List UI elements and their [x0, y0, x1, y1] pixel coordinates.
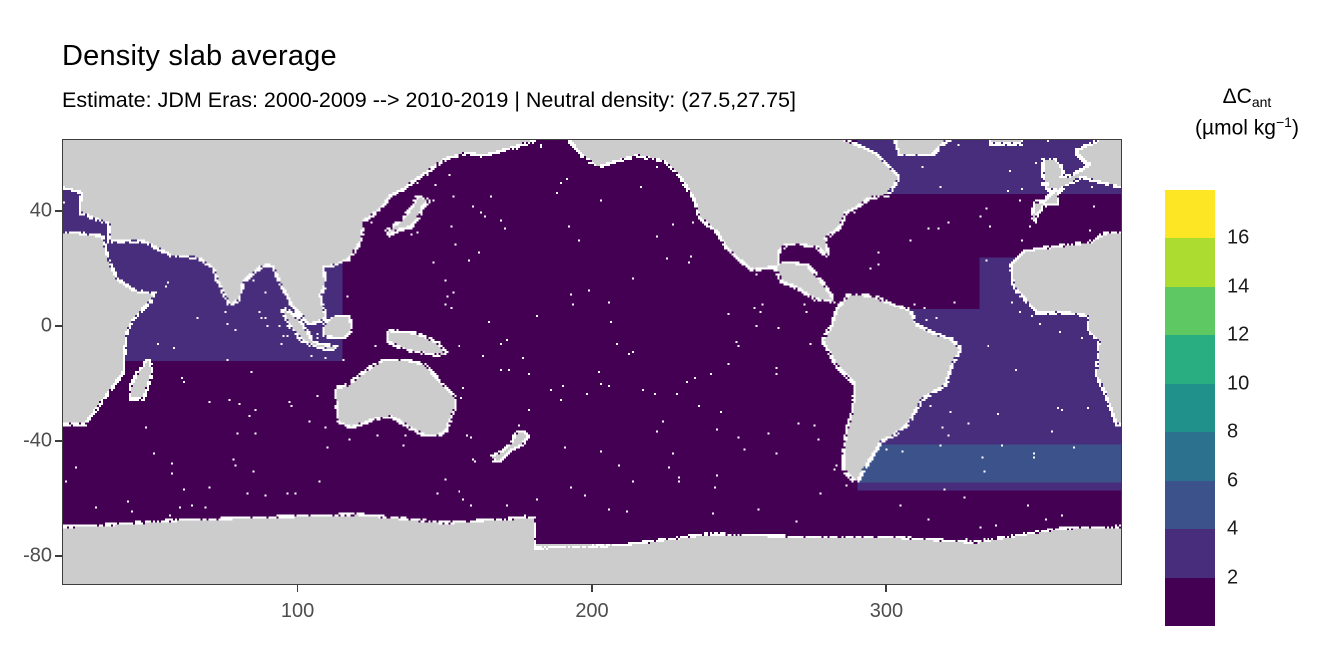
legend-title-main: ΔC	[1223, 85, 1252, 108]
page-subtitle: Estimate: JDM Eras: 2000-2009 --> 2010-2…	[62, 88, 796, 113]
y-tick-mark	[55, 325, 62, 327]
legend-units-prefix: (µmol kg	[1195, 116, 1276, 139]
x-tick-mark	[885, 585, 887, 592]
y-tick-label: 0	[6, 315, 52, 338]
y-tick-label: -80	[6, 545, 52, 568]
x-tick-label: 300	[870, 600, 903, 623]
page-title: Density slab average	[62, 40, 337, 73]
colorbar-tick-label: 2	[1227, 566, 1238, 589]
colorbar-swatch	[1165, 529, 1215, 578]
map-raster	[63, 140, 1121, 584]
x-tick-label: 200	[575, 600, 608, 623]
colorbar-swatch	[1165, 287, 1215, 336]
colorbar-tick-label: 8	[1227, 421, 1238, 444]
colorbar-tick-label: 14	[1227, 275, 1249, 298]
colorbar-swatch	[1165, 481, 1215, 530]
colorbar-swatch	[1165, 335, 1215, 384]
colorbar-swatch	[1165, 432, 1215, 481]
y-tick-mark	[55, 210, 62, 212]
legend-title: ΔCant (µmol kg−1)	[1150, 82, 1344, 143]
map-panel	[62, 139, 1122, 585]
x-tick-mark	[591, 585, 593, 592]
colorbar-tick-label: 6	[1227, 469, 1238, 492]
colorbar: 161412108642	[1165, 190, 1215, 626]
y-tick-label: 40	[6, 199, 52, 222]
figure-root: Density slab average Estimate: JDM Eras:…	[0, 0, 1344, 672]
x-tick-label: 100	[281, 600, 314, 623]
legend-title-subscript: ant	[1252, 94, 1271, 110]
legend-units-superscript: −1	[1276, 114, 1292, 130]
colorbar-tick-label: 10	[1227, 372, 1249, 395]
colorbar-swatch	[1165, 578, 1215, 627]
legend: ΔCant (µmol kg−1)	[1150, 82, 1344, 143]
y-tick-mark	[55, 440, 62, 442]
colorbar-tick-label: 16	[1227, 227, 1249, 250]
colorbar-swatch	[1165, 384, 1215, 433]
colorbar-swatch	[1165, 238, 1215, 287]
legend-units-suffix: )	[1292, 116, 1299, 139]
y-tick-label: -40	[6, 430, 52, 453]
x-tick-mark	[297, 585, 299, 592]
y-tick-mark	[55, 555, 62, 557]
colorbar-tick-label: 4	[1227, 518, 1238, 541]
colorbar-tick-label: 12	[1227, 324, 1249, 347]
colorbar-swatch	[1165, 190, 1215, 239]
